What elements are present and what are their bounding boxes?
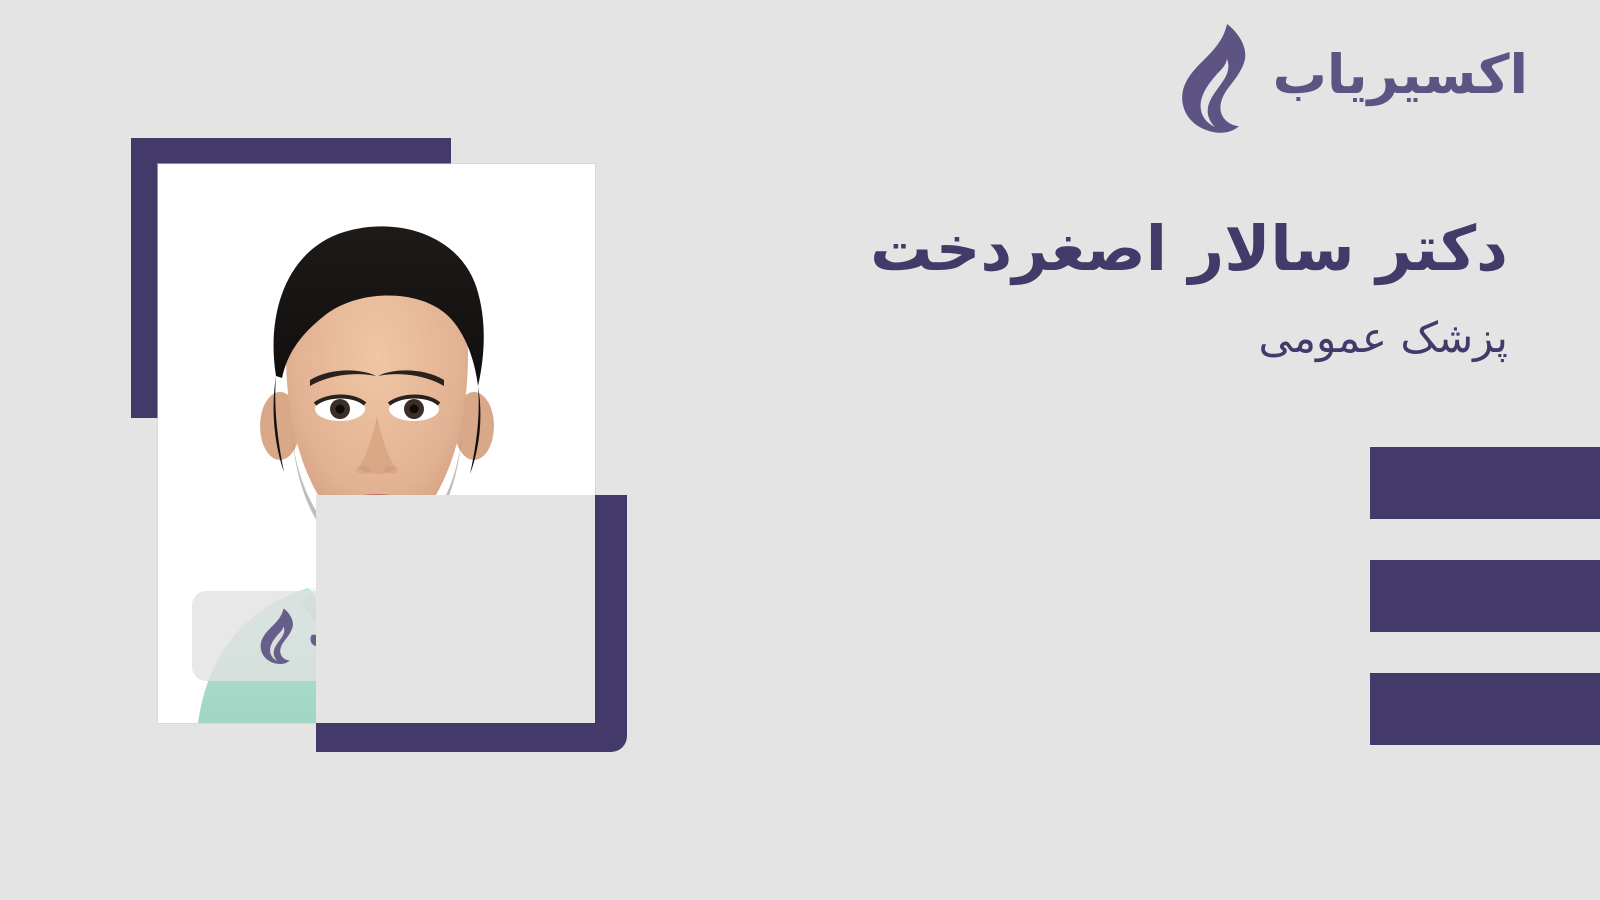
flame-drop-icon	[1177, 22, 1263, 134]
frame-accent-cutout	[316, 495, 595, 723]
flame-drop-icon	[258, 607, 302, 665]
decor-bar-3	[1370, 673, 1600, 745]
brand-name: اکسیریاب	[1273, 48, 1528, 108]
photo-composition: اکسیریاب	[131, 138, 627, 752]
doctor-info: دکتر سالار اصغردخت پزشک عمومی	[748, 212, 1508, 366]
profile-card: اکسیریاب دکتر سالار اصغردخت پزشک عمومی	[0, 0, 1600, 900]
doctor-name: دکتر سالار اصغردخت	[748, 212, 1508, 285]
decorative-bars	[1370, 447, 1600, 745]
frame-accent-bottom-right	[316, 495, 627, 752]
decor-bar-1	[1370, 447, 1600, 519]
brand-logo[interactable]: اکسیریاب	[1177, 22, 1528, 134]
doctor-specialty: پزشک عمومی	[748, 311, 1508, 366]
decor-bar-2	[1370, 560, 1600, 632]
